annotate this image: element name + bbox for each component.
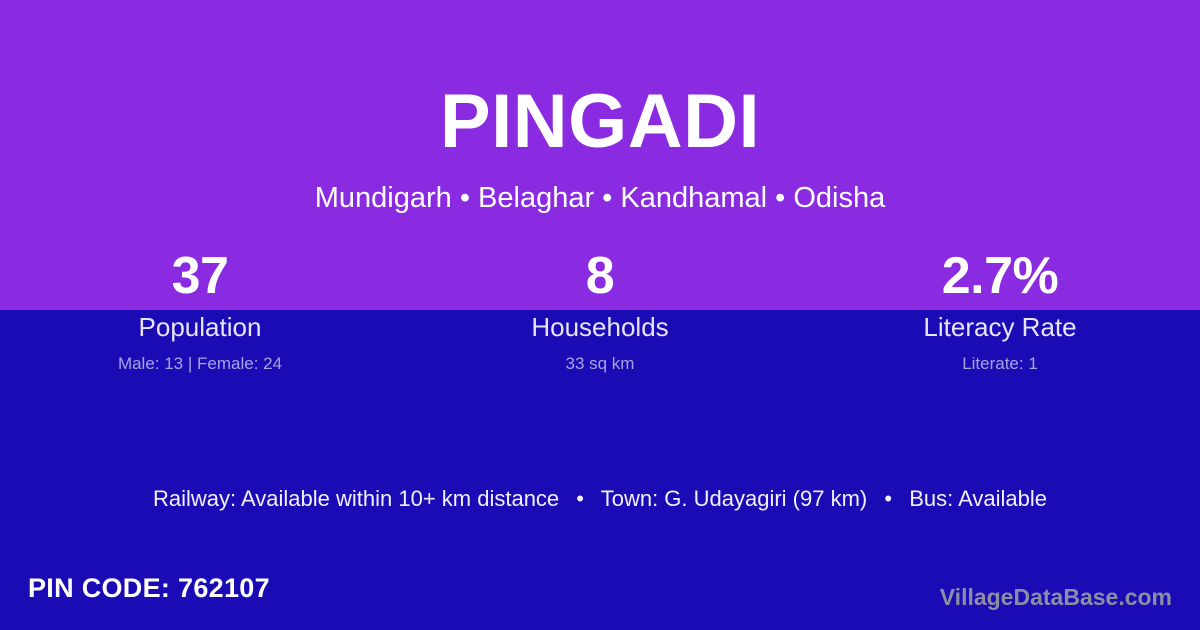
stat-literacy-rate: 2.7% Literacy Rate Literate: 1 (800, 246, 1200, 375)
infra-town: Town: G. Udayagiri (97 km) (601, 486, 868, 511)
stat-sublabel: 33 sq km (400, 353, 800, 375)
infrastructure-line: Railway: Available within 10+ km distanc… (0, 484, 1200, 514)
stat-households: 8 Households 33 sq km (400, 246, 800, 375)
infra-railway: Railway: Available within 10+ km distanc… (153, 486, 559, 511)
bullet-separator-icon: • (565, 484, 595, 514)
page-title: PINGADI (0, 84, 1200, 160)
stat-sublabel: Male: 13 | Female: 24 (0, 353, 400, 375)
stat-label: Population (0, 312, 400, 342)
stat-label: Households (400, 312, 800, 342)
infra-bus: Bus: Available (909, 486, 1047, 511)
stat-population: 37 Population Male: 13 | Female: 24 (0, 246, 400, 375)
stat-label: Literacy Rate (800, 312, 1200, 342)
site-watermark: VillageDataBase.com (940, 583, 1172, 611)
village-info-card: PINGADI Mundigarh • Belaghar • Kandhamal… (0, 0, 1200, 630)
pin-code: PIN CODE: 762107 (28, 572, 270, 604)
footer: PIN CODE: 762107 VillageDataBase.com (0, 558, 1200, 630)
stat-sublabel: Literate: 1 (800, 353, 1200, 375)
breadcrumb: Mundigarh • Belaghar • Kandhamal • Odish… (0, 181, 1200, 216)
stats-row: 37 Population Male: 13 | Female: 24 8 Ho… (0, 246, 1200, 375)
bullet-separator-icon: • (873, 484, 903, 514)
stat-value: 2.7% (800, 246, 1200, 310)
stat-value: 37 (0, 246, 400, 310)
stat-value: 8 (400, 246, 800, 310)
